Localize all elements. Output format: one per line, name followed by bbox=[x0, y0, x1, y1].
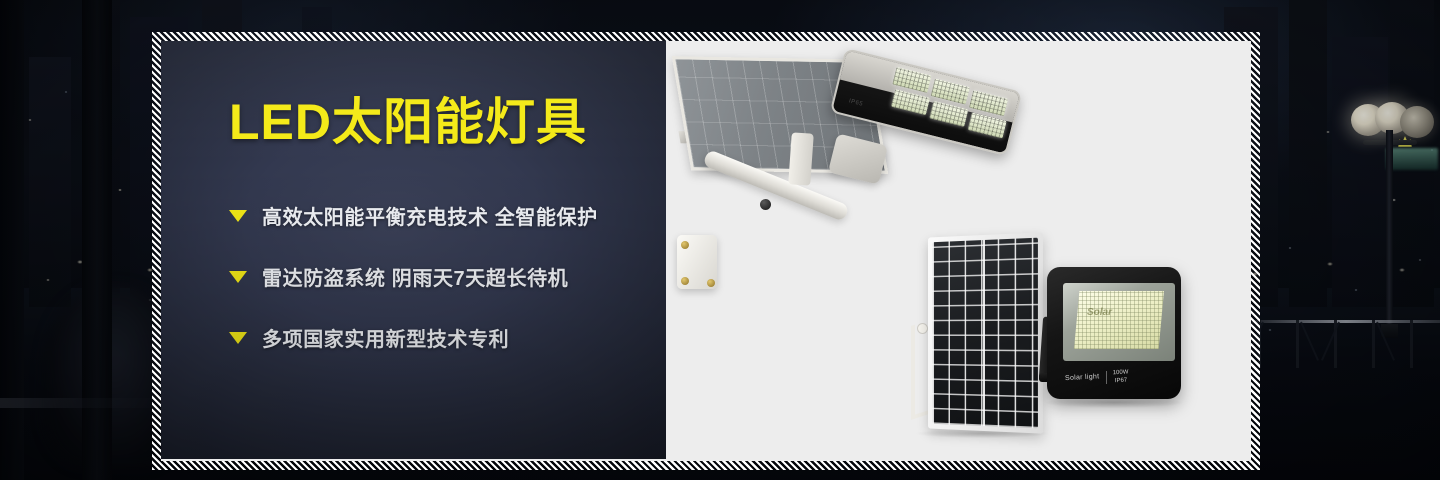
feature-text: 多项国家实用新型技术专利 bbox=[262, 323, 509, 352]
banner-text-panel: LED太阳能灯具 高效太阳能平衡充电技术 全智能保护 雷达防盗系统 阴雨天7天超… bbox=[161, 41, 666, 459]
floodlight-label-name: Solar light bbox=[1065, 372, 1107, 381]
panel-busbar bbox=[983, 240, 985, 426]
floodlight-spec-label: Solar light 100W IP67 bbox=[1065, 368, 1173, 386]
floodlight-power: 100W bbox=[1113, 369, 1129, 376]
radar-sensor-icon bbox=[760, 199, 771, 210]
feature-list: 高效太阳能平衡充电技术 全智能保护 雷达防盗系统 阴雨天7天超长待机 多项国家实… bbox=[229, 201, 649, 384]
page-title: LED太阳能灯具 bbox=[229, 96, 587, 149]
panel-frame bbox=[928, 232, 1043, 433]
triangle-down-icon bbox=[229, 210, 247, 222]
feature-item: 高效太阳能平衡充电技术 全智能保护 bbox=[229, 201, 649, 230]
panel-cells bbox=[933, 238, 1038, 429]
mount-bolt bbox=[681, 241, 689, 249]
triangle-down-icon bbox=[229, 271, 247, 283]
floodlight-body: Solar Solar light 100W IP67 bbox=[1047, 267, 1181, 399]
feature-item: 雷达防盗系统 阴雨天7天超长待机 bbox=[229, 262, 649, 291]
banner-content: LED太阳能灯具 高效太阳能平衡充电技术 全智能保护 雷达防盗系统 阴雨天7天超… bbox=[161, 41, 1251, 461]
panel-hinge bbox=[917, 323, 928, 334]
mount-bolt bbox=[707, 279, 715, 287]
lamp-head-marking: IP65 bbox=[848, 98, 863, 107]
triangle-down-icon bbox=[229, 332, 247, 344]
street-light-upright bbox=[788, 132, 814, 185]
mount-bolt bbox=[681, 277, 689, 285]
feature-text: 雷达防盗系统 阴雨天7天超长待机 bbox=[262, 262, 568, 291]
hatched-banner-frame: LED太阳能灯具 高效太阳能平衡充电技术 全智能保护 雷达防盗系统 阴雨天7天超… bbox=[152, 32, 1260, 470]
product-image-panel: IP65 bbox=[666, 41, 1251, 461]
led-module bbox=[967, 112, 1006, 138]
led-module bbox=[891, 89, 930, 115]
solar-floodlight-product: Solar Solar light 100W IP67 bbox=[1041, 267, 1191, 405]
feature-text: 高效太阳能平衡充电技术 全智能保护 bbox=[262, 201, 598, 230]
solar-panel-product bbox=[911, 235, 1053, 435]
feature-item: 多项国家实用新型技术专利 bbox=[229, 323, 649, 352]
floodlight-ip-rating: IP67 bbox=[1115, 377, 1128, 384]
floodlight-lens-logo: Solar bbox=[1087, 307, 1141, 323]
floodlight-label-specs: 100W IP67 bbox=[1107, 369, 1129, 385]
led-module bbox=[929, 101, 968, 127]
